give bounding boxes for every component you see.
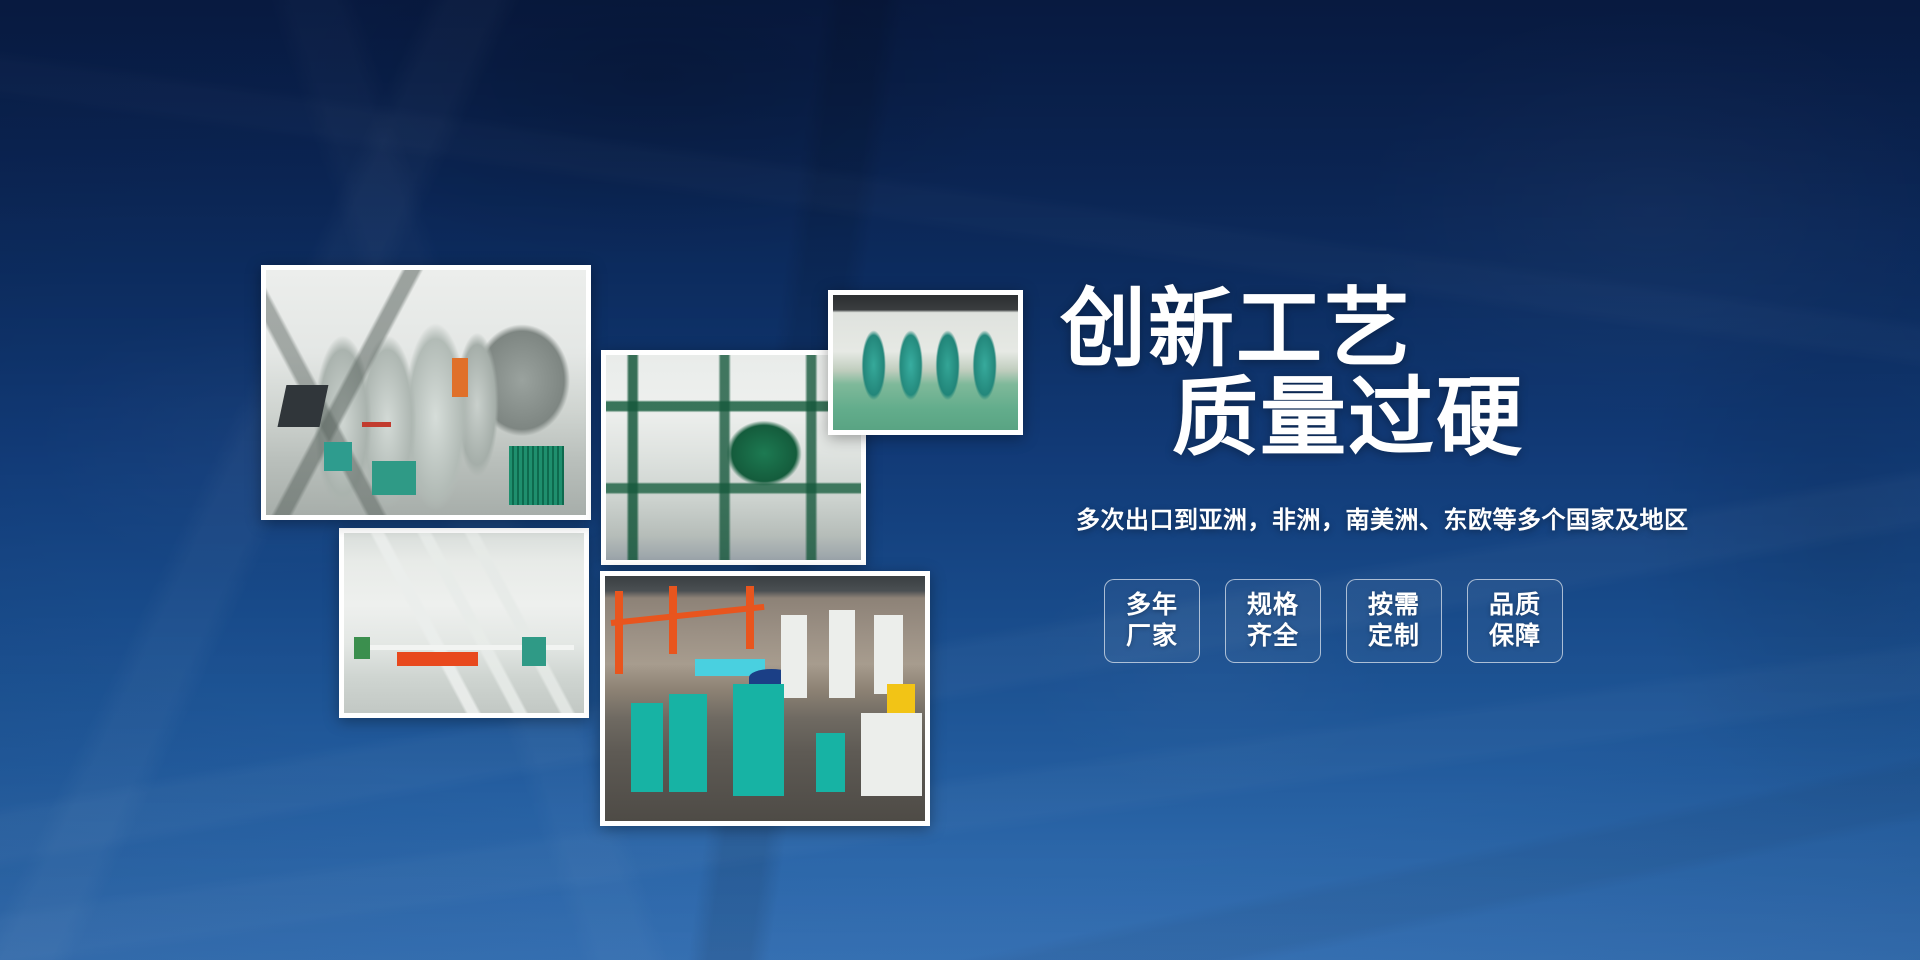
collage-photo-teal-mill-workshop bbox=[600, 571, 930, 826]
headline-line-1: 创新工艺 bbox=[1060, 285, 1760, 374]
photo-detail-yellow-spiral bbox=[887, 684, 916, 713]
collage-photo-green-floor-mills bbox=[828, 290, 1023, 435]
photo-collage bbox=[0, 0, 1100, 960]
photo-detail-white-4 bbox=[861, 713, 922, 796]
photo-detail-white-3 bbox=[874, 615, 903, 693]
photo-detail-beam-3 bbox=[746, 586, 754, 650]
photo-detail-teal bbox=[522, 637, 546, 666]
photo-detail-beam-2 bbox=[669, 586, 677, 655]
photo-detail-beam-1 bbox=[615, 591, 623, 674]
badge-line-2: 定制 bbox=[1368, 621, 1420, 652]
banner-text-block: 创新工艺 质量过硬 多次出口到亚洲，非洲，南美洲、东欧等多个国家及地区 多年 厂… bbox=[1060, 285, 1760, 663]
photo-detail-orange bbox=[397, 652, 479, 666]
photo-frame bbox=[833, 295, 1018, 430]
feature-badge-custom-made[interactable]: 按需 定制 bbox=[1346, 579, 1442, 663]
photo-detail-teal-1 bbox=[324, 442, 353, 471]
badge-line-2: 齐全 bbox=[1247, 621, 1299, 652]
photo-detail-green bbox=[354, 637, 371, 659]
photo-frame bbox=[605, 576, 925, 821]
collage-photo-duct-mill-line bbox=[261, 265, 591, 520]
photo-detail-machine-1 bbox=[631, 703, 663, 791]
photo-detail-machine-2 bbox=[669, 694, 707, 792]
photo-frame bbox=[606, 355, 861, 560]
photo-detail-orange bbox=[452, 358, 468, 397]
photo-detail-red bbox=[362, 422, 391, 427]
badge-line-1: 品质 bbox=[1489, 590, 1541, 621]
photo-detail-teal-2 bbox=[372, 461, 417, 495]
photo-detail-grille bbox=[509, 446, 563, 505]
subtitle: 多次出口到亚洲，非洲，南美洲、东欧等多个国家及地区 bbox=[1076, 500, 1760, 535]
feature-badge-full-specifications[interactable]: 规格 齐全 bbox=[1225, 579, 1321, 663]
collage-photo-conveyor-line bbox=[339, 528, 589, 718]
promo-banner: 创新工艺 质量过硬 多次出口到亚洲，非洲，南美洲、东欧等多个国家及地区 多年 厂… bbox=[0, 0, 1920, 960]
photo-detail-beam-4 bbox=[611, 604, 764, 626]
photo-detail-machine-3 bbox=[733, 684, 784, 797]
badge-line-1: 规格 bbox=[1247, 590, 1299, 621]
badge-line-1: 多年 bbox=[1126, 590, 1178, 621]
badge-line-2: 厂家 bbox=[1126, 621, 1178, 652]
badge-line-1: 按需 bbox=[1368, 590, 1420, 621]
photo-frame bbox=[266, 270, 586, 515]
headline: 创新工艺 质量过硬 bbox=[1060, 285, 1760, 464]
feature-badge-years-manufacturer[interactable]: 多年 厂家 bbox=[1104, 579, 1200, 663]
photo-detail-black bbox=[278, 385, 328, 427]
photo-frame bbox=[344, 533, 584, 713]
feature-badge-list: 多年 厂家 规格 齐全 按需 定制 品质 保障 bbox=[1104, 579, 1760, 663]
photo-detail-white-1 bbox=[781, 615, 807, 698]
badge-line-2: 保障 bbox=[1489, 621, 1541, 652]
collage-photo-green-frame-mill bbox=[601, 350, 866, 565]
photo-detail-white-2 bbox=[829, 610, 855, 698]
feature-badge-quality-assurance[interactable]: 品质 保障 bbox=[1467, 579, 1563, 663]
headline-line-2: 质量过硬 bbox=[1060, 374, 1760, 463]
photo-detail-machine-4 bbox=[816, 733, 845, 792]
